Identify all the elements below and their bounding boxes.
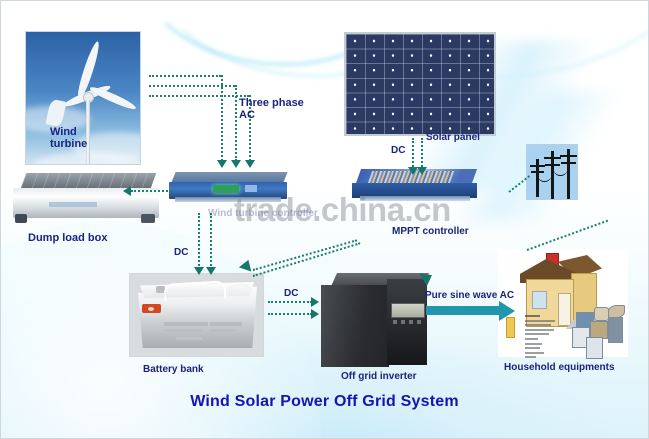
flow-dc-solar-v2 — [421, 138, 423, 170]
flow-arrow-down — [194, 267, 204, 275]
flow-arrow-right — [311, 297, 319, 307]
solar-panel-label: Solar panel — [426, 133, 480, 144]
ac-flow-bar — [426, 306, 500, 315]
utility-grid-image — [526, 144, 578, 200]
three-phase-ac-label: Three phase AC — [239, 98, 304, 122]
flow-dc-battery-v1 — [198, 213, 200, 270]
battery-bank-label: Battery bank — [143, 365, 204, 376]
diagram-title: Wind Solar Power Off Grid System — [1, 393, 648, 411]
flow-dc-inverter-h2 — [268, 313, 312, 315]
off-grid-inverter-image — [321, 273, 431, 368]
pure-sine-wave-ac-label: Pure sine wave AC — [425, 291, 514, 302]
flow-three-phase-ac-h3 — [149, 95, 249, 97]
flow-three-phase-ac-h1 — [149, 75, 221, 77]
diagram-canvas: Wind turbine Solar panel Wind turbine co… — [0, 0, 649, 439]
household-equipments-label: Household equipments — [504, 363, 615, 374]
flow-dc-battery-v2 — [210, 213, 212, 270]
flow-three-phase-ac-v2 — [235, 85, 237, 161]
flow-arrow-down — [231, 160, 241, 168]
solar-panel-image — [344, 32, 496, 136]
dc-battery-inverter-label: DC — [284, 289, 298, 300]
flow-dc-solar-v1 — [412, 138, 414, 170]
dc-controller-battery-label: DC — [174, 248, 188, 259]
ac-flow-arrowhead — [499, 301, 515, 321]
flow-dc-inverter-h1 — [268, 301, 312, 303]
flow-controller-to-dump — [131, 190, 171, 192]
off-grid-inverter-label: Off grid inverter — [341, 372, 417, 383]
wind-turbine-label: Wind turbine — [50, 127, 87, 151]
dc-solar-label: DC — [391, 146, 405, 157]
wind-turbine-controller-label: Wind turbine controller — [208, 209, 318, 220]
flow-arrow-down — [417, 167, 427, 175]
dump-load-box-label: Dump load box — [28, 233, 107, 245]
dump-load-box-image — [13, 173, 159, 225]
flow-arrow-down — [206, 267, 216, 275]
flow-three-phase-ac-v1 — [221, 75, 223, 161]
flow-arrow-right — [311, 309, 319, 319]
wind-turbine-controller-image — [169, 172, 287, 205]
flow-arrow-down — [217, 160, 227, 168]
household-equipments-image — [498, 249, 628, 357]
flow-arrow-left — [123, 186, 131, 196]
battery-bank-image — [129, 273, 264, 357]
mppt-controller-label: MPPT controller — [392, 227, 469, 238]
flow-arrow-down — [245, 160, 255, 168]
